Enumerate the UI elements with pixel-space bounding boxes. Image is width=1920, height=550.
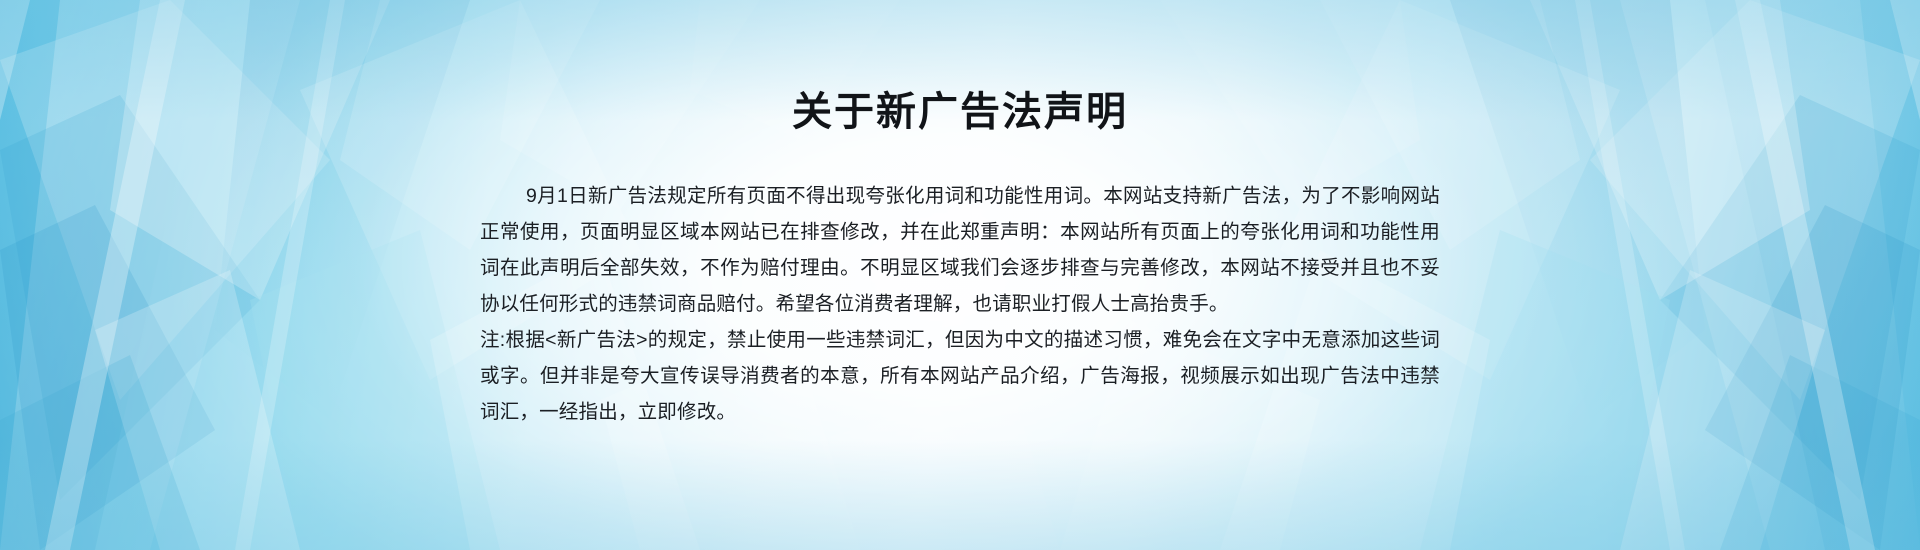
statement-body: 9月1日新广告法规定所有页面不得出现夸张化用词和功能性用词。本网站支持新广告法，… <box>480 178 1440 430</box>
statement-paragraph-2: 注:根据<新广告法>的规定，禁止使用一些违禁词汇，但因为中文的描述习惯，难免会在… <box>480 322 1440 430</box>
page-title: 关于新广告法声明 <box>0 88 1920 136</box>
statement-paragraph-1: 9月1日新广告法规定所有页面不得出现夸张化用词和功能性用词。本网站支持新广告法，… <box>480 178 1440 322</box>
statement-content: 关于新广告法声明 9月1日新广告法规定所有页面不得出现夸张化用词和功能性用词。本… <box>0 0 1920 550</box>
advertising-law-statement-banner: 关于新广告法声明 9月1日新广告法规定所有页面不得出现夸张化用词和功能性用词。本… <box>0 0 1920 550</box>
